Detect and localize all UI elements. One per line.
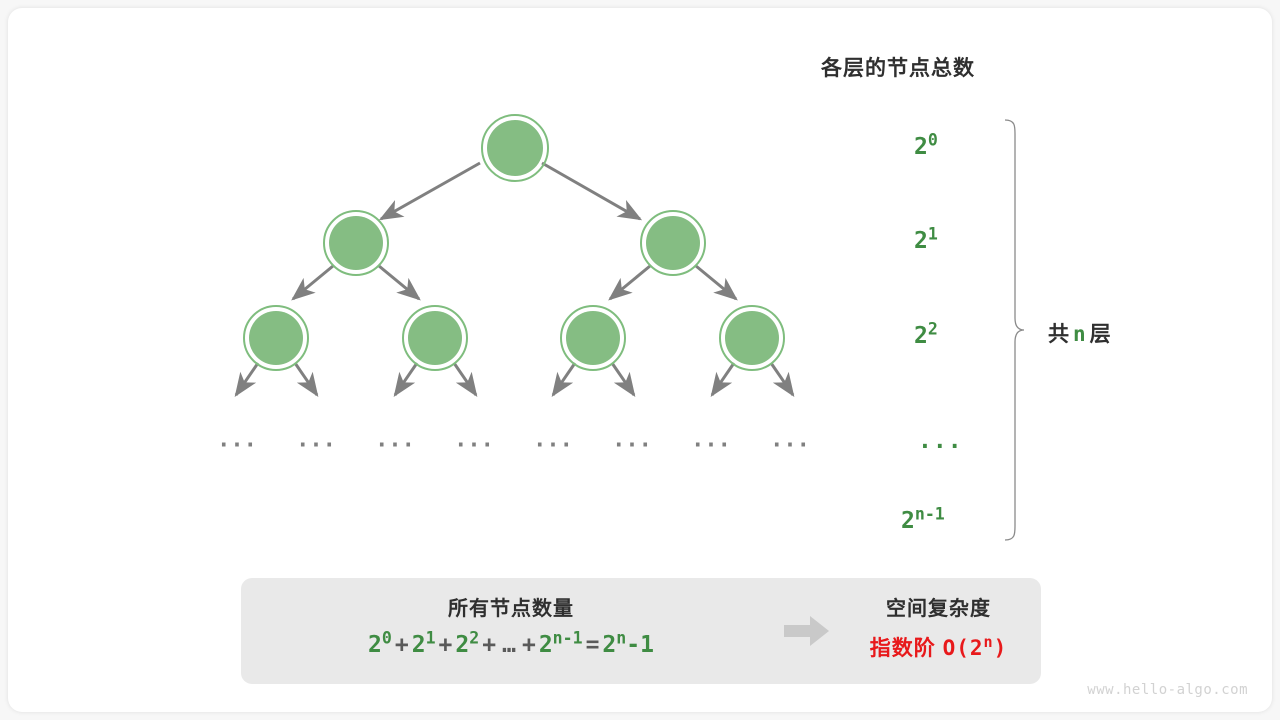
term-base: 2 xyxy=(539,632,553,658)
level-count-label-ellipsis: ... xyxy=(918,428,1038,454)
total-layers-label: 共n层 xyxy=(1048,318,1112,348)
right-block-arrow-icon xyxy=(784,614,830,648)
leaf-ellipsis: ... xyxy=(612,428,652,453)
leaf-ellipsis-text: ... xyxy=(454,428,494,453)
big-o-close: ) xyxy=(994,636,1008,660)
summary-node-count: 所有节点数量 20+21+22+…+2n-1=2n-1 xyxy=(251,592,771,658)
level-count-exponent: n-1 xyxy=(915,504,945,523)
total-layers-symbol: n xyxy=(1070,322,1090,346)
leaf-ellipsis-text: ... xyxy=(770,428,810,453)
term-base: 2 xyxy=(368,632,382,658)
term-exponent: 0 xyxy=(382,628,392,647)
leaf-ellipsis: ... xyxy=(533,428,573,453)
level-count-label-3: 22 xyxy=(914,323,1034,349)
leaf-ellipsis: ... xyxy=(296,428,336,453)
term-base: 2 xyxy=(455,632,469,658)
summary-space-complexity-value: 指数阶 O(2n) xyxy=(841,632,1036,662)
level-count-base: 2 xyxy=(914,134,928,160)
diagram-card: 各层的节点总数 20 21 22 ... 2n-1 共n层 ... ... ..… xyxy=(8,8,1272,712)
tree-node xyxy=(403,306,467,370)
level-count-label-2: 21 xyxy=(914,228,1034,254)
summary-space-complexity: 空间复杂度 指数阶 O(2n) xyxy=(841,592,1036,662)
tree-node xyxy=(720,306,784,370)
level-count-exponent: 0 xyxy=(928,130,938,149)
plus-operator: + xyxy=(479,632,499,658)
term-exponent: 2 xyxy=(469,628,479,647)
tree-edges xyxy=(236,163,793,395)
summary-node-count-caption: 所有节点数量 xyxy=(251,592,771,621)
leaf-ellipsis: ... xyxy=(454,428,494,453)
result-exponent: n xyxy=(616,628,626,647)
order-name: 指数阶 xyxy=(870,637,936,660)
leaf-ellipsis: ... xyxy=(770,428,810,453)
tree-node xyxy=(482,115,548,181)
tree-nodes xyxy=(244,115,784,370)
equals-operator: = xyxy=(583,632,603,658)
level-count-exponent: 1 xyxy=(928,224,938,243)
result-base: 2 xyxy=(602,632,616,658)
levels-column-title: 各层的节点总数 xyxy=(768,52,1028,82)
tree-node xyxy=(561,306,625,370)
summary-node-count-formula: 20+21+22+…+2n-1=2n-1 xyxy=(251,632,771,658)
tree-node xyxy=(641,211,705,275)
leaf-ellipsis-text: ... xyxy=(533,428,573,453)
total-layers-suffix: 层 xyxy=(1090,323,1112,346)
plus-operator: + xyxy=(436,632,456,658)
watermark: www.hello-algo.com xyxy=(1087,682,1248,698)
leaf-ellipsis: ... xyxy=(217,428,257,453)
summary-space-complexity-caption: 空间复杂度 xyxy=(841,592,1036,621)
level-count-exponent: 2 xyxy=(928,319,938,338)
tree-node xyxy=(244,306,308,370)
level-count-base: 2 xyxy=(914,323,928,349)
tree-node xyxy=(324,211,388,275)
leaf-ellipsis-text: ... xyxy=(217,428,257,453)
result-minus-one: -1 xyxy=(626,632,654,658)
level-count-base: 2 xyxy=(914,228,928,254)
leaf-ellipsis-text: ... xyxy=(691,428,731,453)
leaf-ellipsis-text: ... xyxy=(296,428,336,453)
ellipsis-term: … xyxy=(499,632,519,658)
leaf-ellipsis-text: ... xyxy=(612,428,652,453)
leaf-ellipsis-text: ... xyxy=(375,428,415,453)
big-o-base: O(2 xyxy=(943,636,984,660)
term-base: 2 xyxy=(412,632,426,658)
summary-box: 所有节点数量 20+21+22+…+2n-1=2n-1 空间复杂度 指数阶 O(… xyxy=(241,578,1041,684)
screenshot-canvas: 各层的节点总数 20 21 22 ... 2n-1 共n层 ... ... ..… xyxy=(0,0,1280,720)
level-count-label-last: 2n-1 xyxy=(901,508,1021,534)
level-count-base: 2 xyxy=(901,508,915,534)
leaf-ellipsis: ... xyxy=(691,428,731,453)
term-exponent: 1 xyxy=(426,628,436,647)
leaf-ellipsis: ... xyxy=(375,428,415,453)
level-count-ellipsis-text: ... xyxy=(918,428,963,454)
level-count-label-1: 20 xyxy=(914,134,1034,160)
big-o-exponent: n xyxy=(984,633,994,651)
total-layers-prefix: 共 xyxy=(1048,323,1070,346)
plus-operator: + xyxy=(392,632,412,658)
term-exponent: n-1 xyxy=(553,628,583,647)
plus-operator: + xyxy=(519,632,539,658)
